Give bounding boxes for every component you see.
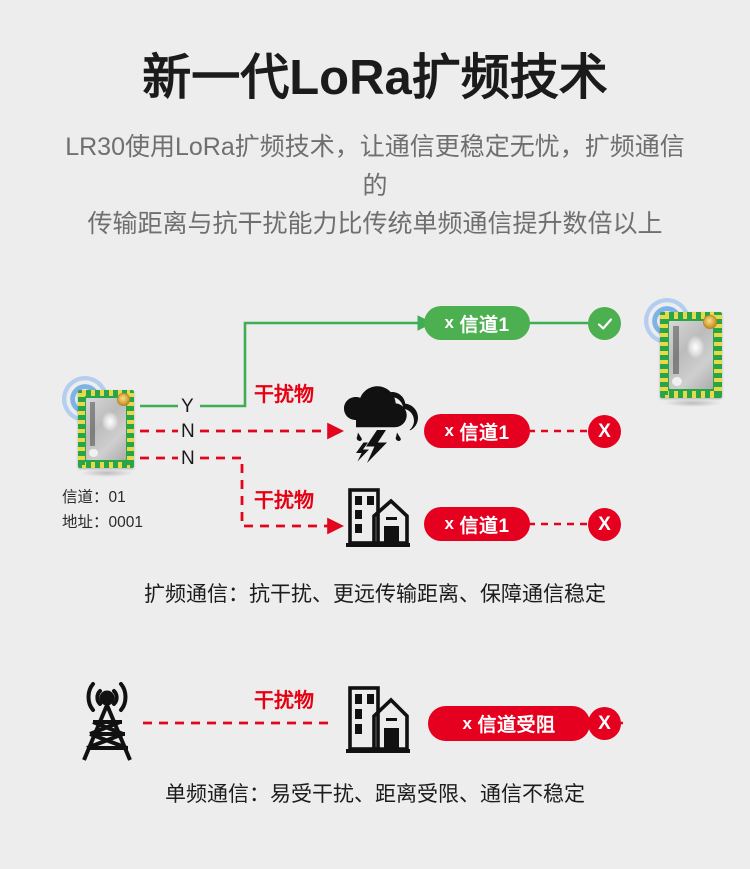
- status-x-icon-2: X: [588, 508, 621, 541]
- route-letter-y: Y: [181, 396, 194, 418]
- spread-spectrum-caption: 扩频通信：抗干扰、更远传输距离、保障通信稳定: [0, 578, 750, 608]
- vendor-logo: [672, 377, 682, 386]
- x-glyph: X: [598, 421, 611, 443]
- badge-x-prefix: x: [463, 714, 473, 734]
- shield-highlight: [687, 336, 705, 358]
- single-frequency-status-x-icon: X: [588, 707, 621, 740]
- interference-label-1: 干扰物: [254, 378, 314, 407]
- silkscreen-text: [673, 326, 679, 374]
- status-check-icon: [588, 307, 621, 340]
- antenna-connector-icon: [117, 393, 129, 405]
- radio-tower-icon: [66, 672, 148, 764]
- module-shadow: [81, 469, 133, 477]
- x-glyph: X: [598, 713, 611, 735]
- route-letter-n-2: N: [181, 448, 195, 470]
- building-icon: [344, 484, 412, 552]
- channel-badge-ok[interactable]: x 信道1: [424, 306, 530, 340]
- shield-highlight: [102, 412, 118, 432]
- single-frequency-interference-label: 干扰物: [254, 684, 314, 713]
- pcb-board: [78, 390, 134, 468]
- pcb-pads-bottom: [82, 462, 129, 468]
- x-glyph: X: [598, 514, 611, 536]
- lora-feature-page: 新一代LoRa扩频技术 LR30使用LoRa扩频技术，让通信更稳定无忧，扩频通信…: [0, 0, 750, 869]
- status-x-icon-1: X: [588, 415, 621, 448]
- badge-label: 信道1: [459, 418, 509, 445]
- lora-module-receiver: [660, 312, 722, 398]
- pcb-board: [660, 312, 722, 398]
- vendor-logo: [89, 449, 98, 458]
- channel-badge-blocked-2[interactable]: x 信道1: [424, 507, 530, 541]
- pcb-pads-right: [714, 315, 722, 394]
- badge-label: 信道1: [459, 511, 509, 538]
- channel-badge-blocked-1[interactable]: x 信道1: [424, 414, 530, 448]
- pcb-pads-left: [660, 315, 668, 394]
- address-value: 地址：0001: [62, 511, 143, 536]
- badge-x-prefix: x: [444, 514, 454, 534]
- storm-cloud-icon: [336, 382, 420, 464]
- building-icon: [344, 682, 412, 758]
- channel-value: 信道：01: [62, 486, 143, 511]
- pcb-pads-bottom: [665, 391, 717, 398]
- module-shadow: [664, 399, 721, 407]
- pcb-pads-left: [78, 393, 85, 465]
- badge-label: 信道1: [459, 310, 509, 337]
- badge-x-prefix: x: [444, 421, 454, 441]
- silkscreen-text: [90, 402, 95, 446]
- badge-x-prefix: x: [444, 313, 454, 333]
- lora-module-transmitter: [78, 390, 134, 468]
- transmitter-info: 信道：01 地址：0001: [62, 486, 143, 536]
- route-letter-n-1: N: [181, 421, 195, 443]
- interference-label-2: 干扰物: [254, 484, 314, 513]
- single-frequency-caption: 单频通信：易受干扰、距离受限、通信不稳定: [0, 778, 750, 808]
- badge-label: 信道受阻: [477, 710, 555, 737]
- single-frequency-badge[interactable]: x 信道受阻: [428, 706, 590, 741]
